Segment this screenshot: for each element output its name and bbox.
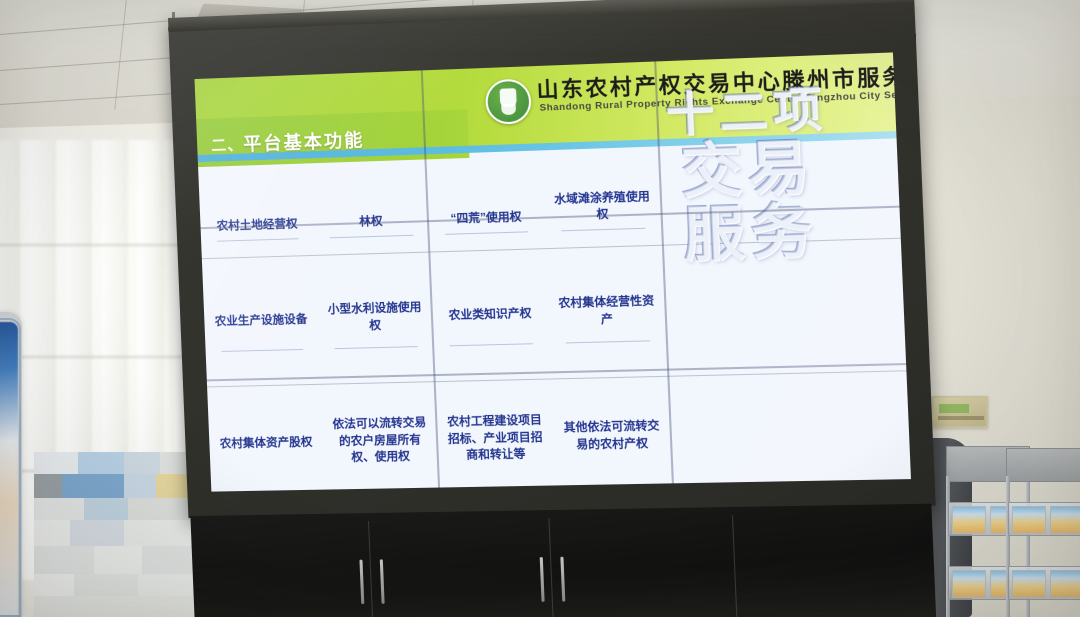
table-cell-spacer xyxy=(781,238,906,373)
table-cell: 小型水利设施使用权 xyxy=(315,252,435,384)
table-cell: 农村集体经营性资产 xyxy=(545,245,668,379)
pixelated-censor-block xyxy=(34,452,194,617)
table-cell: 农业类知识产权 xyxy=(430,248,551,381)
brochure xyxy=(952,506,986,534)
cabinet-handle[interactable] xyxy=(380,559,385,604)
table-cell: 其他依法可流转交易的农村产权 xyxy=(551,376,673,492)
cell-text: 小型水利设施使用权 xyxy=(325,300,424,336)
services-table: 农村土地经营权 林权 “四荒”使用权 xyxy=(198,138,911,491)
cell-text: 其他依法可流转交易的农村产权 xyxy=(561,418,662,454)
table-row: 农村集体资产股权 依法可以流转交易的农户房屋所有权、使用权 农村工程建设项目招标… xyxy=(207,370,911,491)
cabinet-handle[interactable] xyxy=(359,560,364,604)
video-wall-bezel: 山东农村产权交易中心滕州市服务中心 Shandong Rural Propert… xyxy=(168,0,936,518)
cell-text: 农业生产设施设备 xyxy=(214,311,307,330)
table-cell: 农村集体资产股权 xyxy=(207,384,325,492)
table-cell: 林权 xyxy=(311,154,430,255)
info-kiosk[interactable] xyxy=(0,312,22,617)
section-number: 二、 xyxy=(211,133,244,155)
table-cell: 依法可以流转交易的农户房屋所有权、使用权 xyxy=(320,381,439,491)
cabinet-handle[interactable] xyxy=(540,557,545,602)
cell-text: 水域滩涂养殖使用权 xyxy=(552,188,653,225)
table-cell-spacer xyxy=(658,142,781,244)
table-cell-spacer xyxy=(777,138,901,241)
video-wall-screen[interactable]: 山东农村产权交易中心滕州市服务中心 Shandong Rural Propert… xyxy=(194,52,911,491)
brochure xyxy=(1050,506,1080,534)
presentation-slide: 山东农村产权交易中心滕州市服务中心 Shandong Rural Propert… xyxy=(194,52,911,491)
kiosk-frame xyxy=(0,318,21,617)
table-cell: “四荒”使用权 xyxy=(426,150,546,251)
table-cell: 农村土地经营权 xyxy=(198,158,315,258)
brochure xyxy=(1012,506,1046,534)
display-base-cabinet[interactable] xyxy=(190,504,936,617)
brochure xyxy=(952,570,986,598)
cell-text: 农村工程建设项目招标、产业项目招商和转让等 xyxy=(445,412,546,465)
brochure xyxy=(1012,570,1046,598)
table-cell-spacer xyxy=(668,373,792,492)
cell-text: 农村集体资产股权 xyxy=(219,434,312,453)
cell-text: 农业类知识产权 xyxy=(448,305,531,324)
table-cell-spacer xyxy=(663,241,787,376)
table-cell-spacer xyxy=(787,370,911,491)
seedling-emblem-icon xyxy=(485,78,532,124)
brochure-rack[interactable] xyxy=(1000,448,1080,617)
table-cell: 水域滩涂养殖使用权 xyxy=(541,146,662,248)
table-cell: 农村工程建设项目招标、产业项目招商和转让等 xyxy=(435,378,556,491)
table-cell: 农业生产设施设备 xyxy=(202,255,321,387)
cell-text: 依法可以流转交易的农户房屋所有权、使用权 xyxy=(330,415,430,468)
brochure xyxy=(1050,570,1080,598)
table-row: 农业生产设施设备 小型水利设施使用权 农业类知识产权 xyxy=(202,238,907,387)
video-wall[interactable]: 山东农村产权交易中心滕州市服务中心 Shandong Rural Propert… xyxy=(168,0,949,617)
cabinet-handle[interactable] xyxy=(560,557,565,602)
photo-scene: 山东农村产权交易中心滕州市服务中心 Shandong Rural Propert… xyxy=(0,0,1080,617)
cell-text: 农村集体经营性资产 xyxy=(556,293,657,330)
